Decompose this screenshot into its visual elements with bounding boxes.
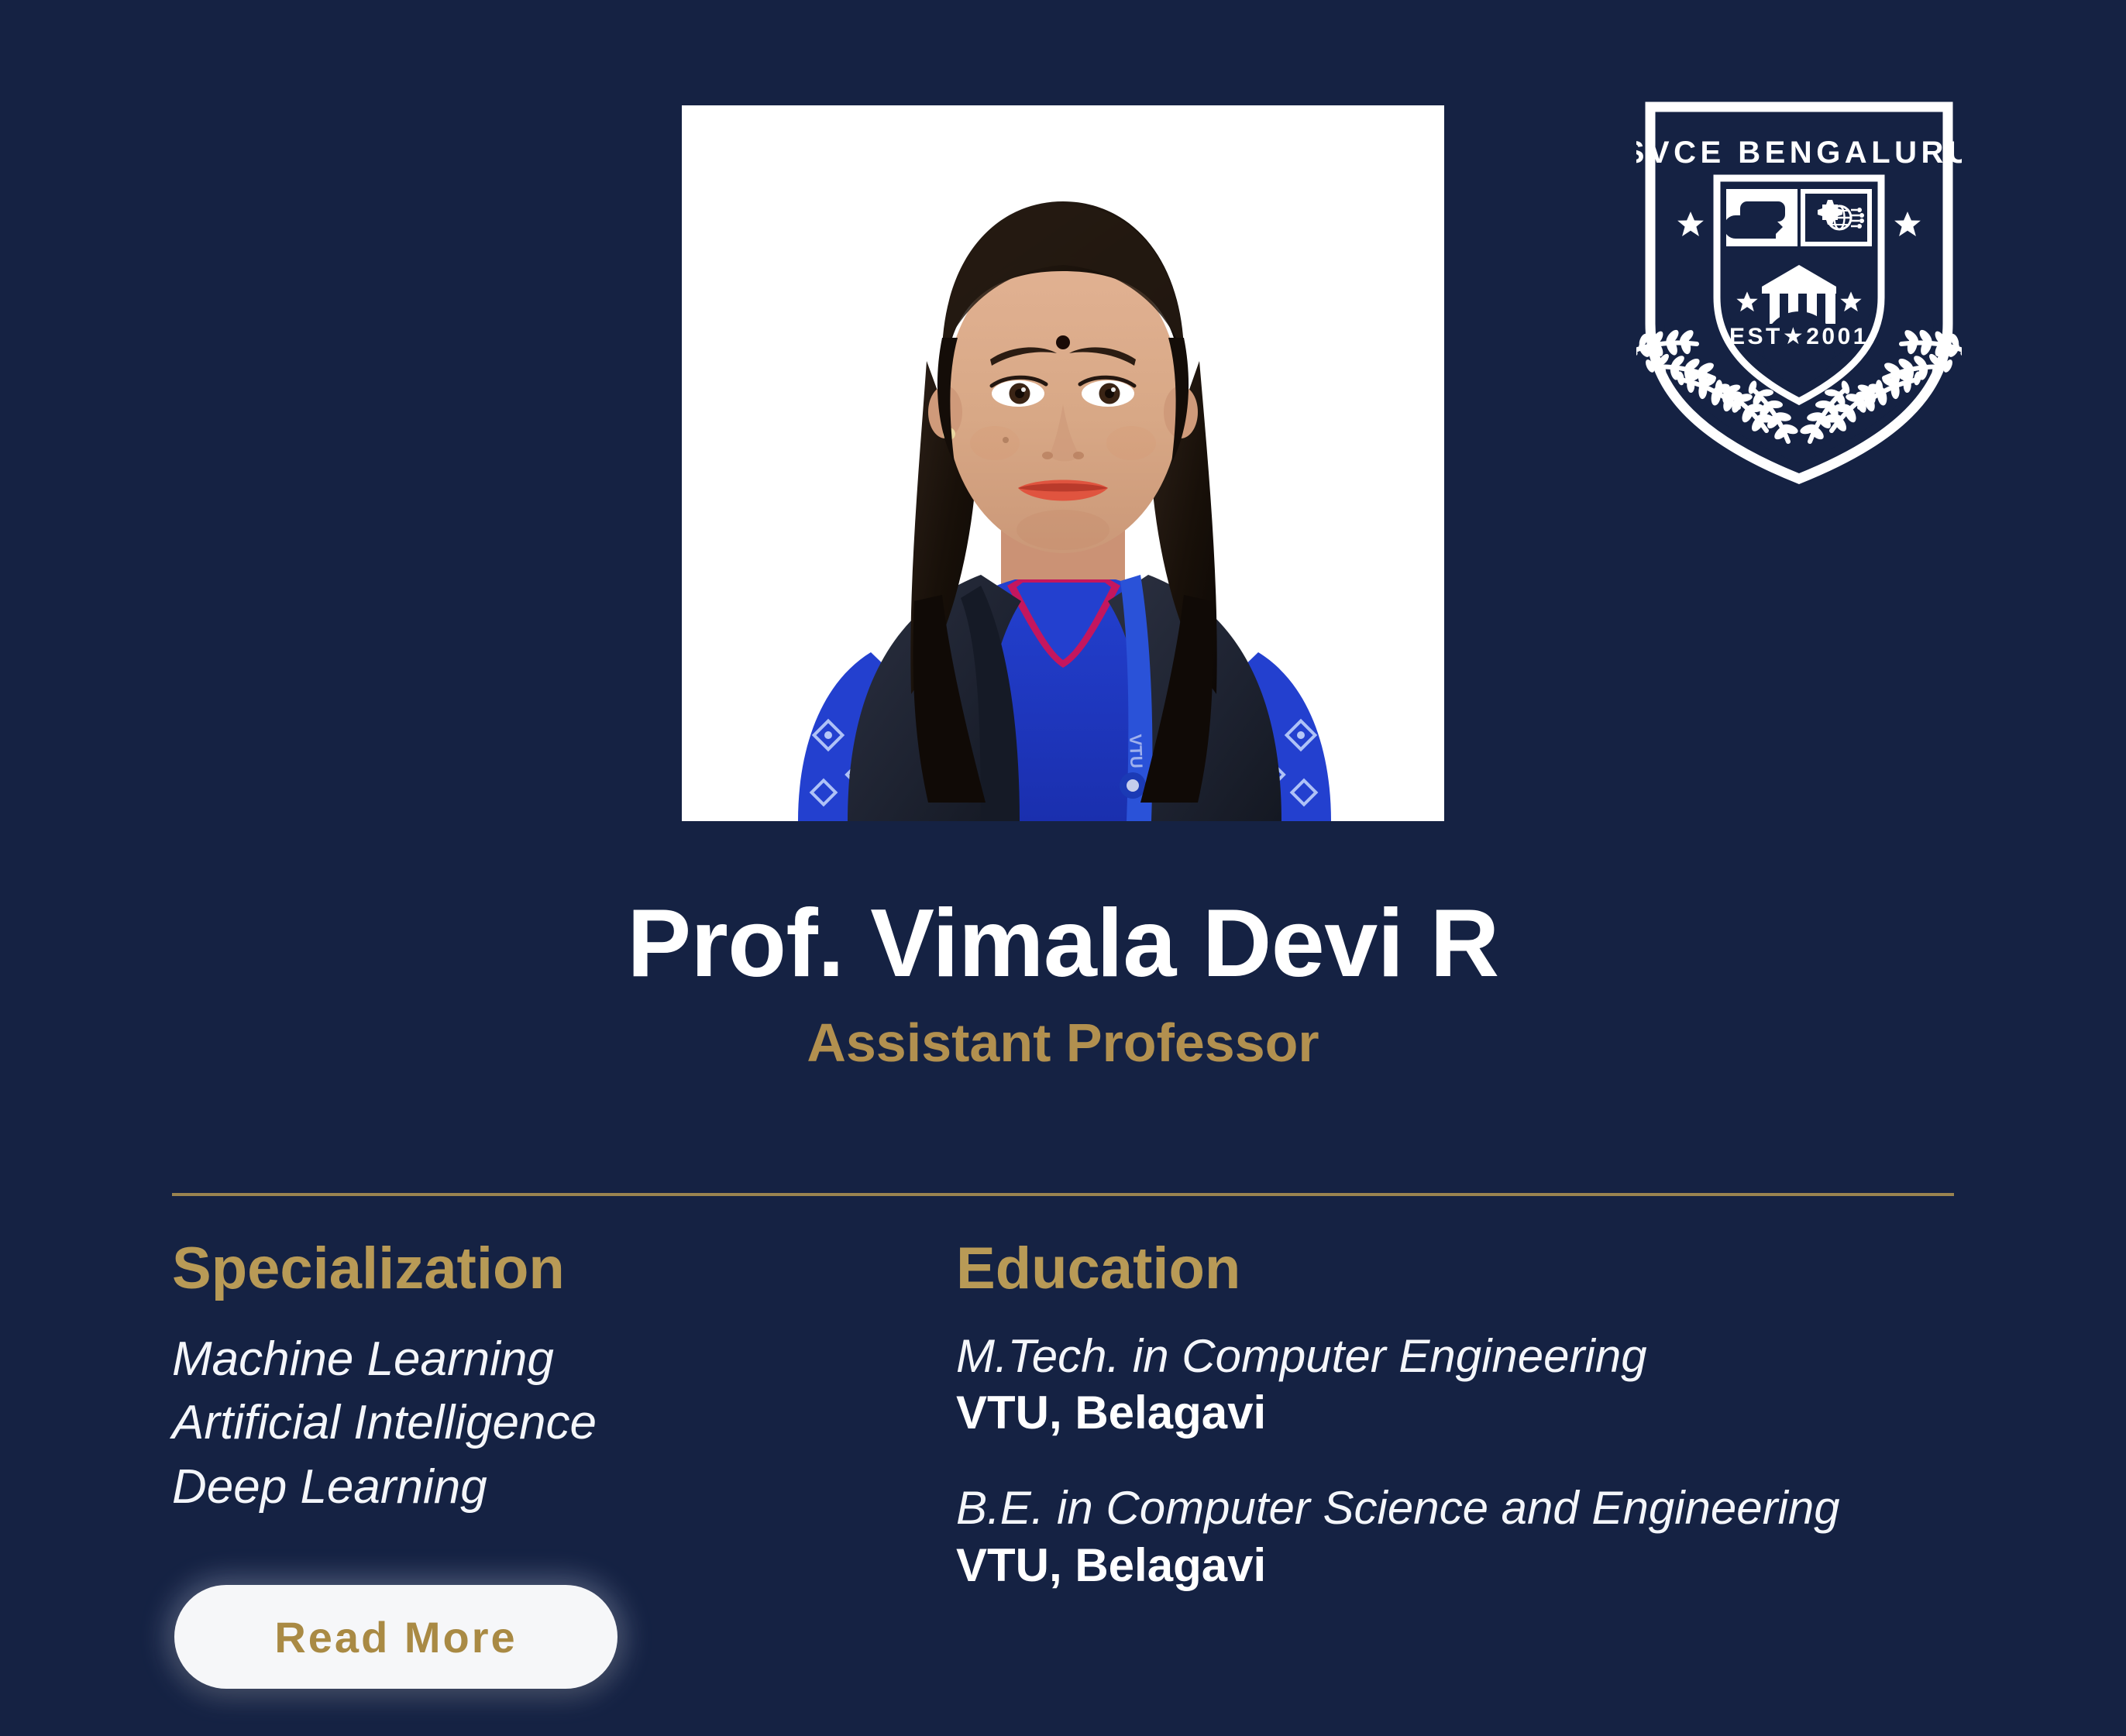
svg-text:SVCE BENGALURU: SVCE BENGALURU	[1636, 136, 1962, 170]
specialization-list: Machine Learning Artificial Intelligence…	[172, 1328, 916, 1519]
education-column: Education M.Tech. in Computer Engineerin…	[956, 1239, 1963, 1593]
specialization-column: Specialization Machine Learning Artifici…	[172, 1239, 916, 1519]
faculty-portrait: VTU	[682, 105, 1444, 821]
section-divider	[172, 1193, 1954, 1196]
education-degree: B.E. in Computer Science and Engineering	[956, 1480, 1963, 1536]
faculty-designation: Assistant Professor	[0, 1013, 2126, 1073]
list-item: Machine Learning	[172, 1328, 916, 1391]
list-item: Deep Learning	[172, 1456, 916, 1519]
svg-text:EST★2001: EST★2001	[1729, 324, 1869, 349]
list-item: Artificial Intelligence	[172, 1391, 916, 1455]
faculty-profile-card: SVCE BENGALURU	[0, 0, 2126, 1736]
svg-text:VTU: VTU	[1126, 734, 1147, 768]
education-heading: Education	[956, 1239, 1963, 1298]
specialization-heading: Specialization	[172, 1239, 916, 1298]
svce-bengaluru-logo: SVCE BENGALURU	[1636, 91, 1962, 488]
education-institute: VTU, Belagavi	[956, 1384, 1963, 1441]
education-degree: M.Tech. in Computer Engineering	[956, 1328, 1963, 1384]
education-institute: VTU, Belagavi	[956, 1537, 1963, 1593]
page-title: Prof. Vimala Devi R	[0, 892, 2126, 996]
list-item: B.E. in Computer Science and Engineering…	[956, 1480, 1963, 1593]
read-more-button[interactable]: Read More	[174, 1585, 618, 1689]
list-item: M.Tech. in Computer Engineering VTU, Bel…	[956, 1328, 1963, 1441]
faculty-name-block: Prof. Vimala Devi R Assistant Professor	[0, 892, 2126, 1073]
